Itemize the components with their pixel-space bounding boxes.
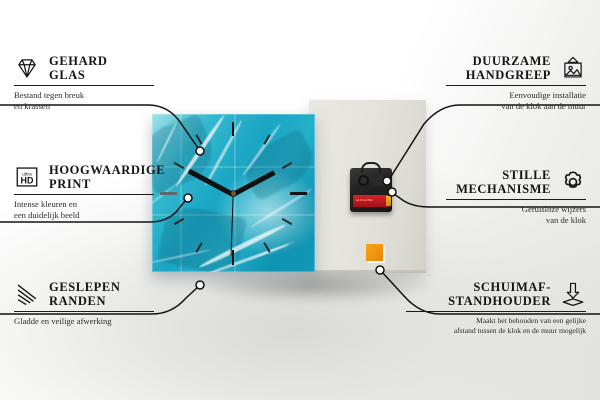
feature-subtitle-line2: een duidelijk beeld	[14, 210, 154, 221]
feature-title-row: GESLEPEN RANDEN	[14, 280, 154, 308]
feature-hoogwaardige-print: ultra HD HOOGWAARDIGE PRINT Intense kleu…	[14, 163, 154, 221]
feature-title: DUURZAME HANDGREEP	[466, 54, 551, 82]
feature-title-row: DUURZAME HANDGREEP	[446, 54, 586, 82]
hanging-picture-frame-icon	[560, 55, 586, 81]
feature-title: HOOGWAARDIGE PRINT	[49, 163, 165, 191]
feature-subtitle: Gladde en veilige afwerking	[14, 316, 154, 327]
feature-subtitle: Geruisloze wijzers van de klok	[446, 204, 586, 226]
press-down-pad-icon	[560, 281, 586, 307]
feature-title-row: SCHUIMAF- STANDHOUDER	[406, 280, 586, 308]
tick-12	[232, 122, 234, 136]
feature-subtitle-line1: Geruisloze wijzers	[446, 204, 586, 215]
aa-battery: ALKALINE	[353, 195, 389, 207]
feature-subtitle: Bestand tegen breuk en krassen	[14, 90, 154, 112]
feature-title: STILLE MECHANISME	[456, 168, 551, 196]
feature-duurzame-handgreep: DUURZAME HANDGREEP Eenvoudige installati…	[446, 54, 586, 112]
mechanism-housing-block	[372, 174, 386, 186]
feature-underline	[446, 199, 586, 200]
tick-9	[160, 192, 177, 195]
feature-subtitle-line1: Gladde en veilige afwerking	[14, 316, 154, 327]
infographic-canvas: ALKALINE	[0, 0, 600, 400]
feature-geslepen-randen: GESLEPEN RANDEN Gladde en veilige afwerk…	[14, 280, 154, 327]
battery-positive-cap	[386, 196, 391, 206]
mechanism-hanger-hook	[361, 162, 381, 173]
feature-subtitle-line1: Eenvoudige installatie	[446, 90, 586, 101]
feature-subtitle-line2: van de klok	[446, 215, 586, 226]
tick-6	[232, 250, 234, 265]
feature-subtitle: Eenvoudige installatie van de klok aan d…	[446, 90, 586, 112]
foam-spacer-pad	[366, 244, 383, 261]
feature-stille-mechanisme: STILLE MECHANISME Geruisloze wijzers van…	[446, 168, 586, 226]
gear-icon	[560, 169, 586, 195]
feature-title-row: ultra HD HOOGWAARDIGE PRINT	[14, 163, 154, 191]
feature-schuimaf-standhouder: SCHUIMAF- STANDHOUDER Maakt het behouden…	[406, 280, 586, 336]
feature-subtitle: Intense kleuren en een duidelijk beeld	[14, 199, 154, 221]
panel-bottom-edge	[309, 270, 426, 273]
diagonal-lines-icon	[14, 281, 40, 307]
feature-title: GESLEPEN RANDEN	[49, 280, 121, 308]
svg-text:HD: HD	[21, 176, 34, 186]
feature-underline	[446, 85, 586, 86]
feature-subtitle-line2: afstand tussen de klok en de muur mogeli…	[406, 326, 586, 336]
feature-underline	[14, 311, 154, 312]
feature-underline	[406, 311, 586, 312]
diamond-icon	[14, 55, 40, 81]
feature-underline	[14, 85, 154, 86]
feature-subtitle: Maakt het behouden van een gelijke afsta…	[406, 316, 586, 336]
feature-subtitle-line2: en krassen	[14, 101, 154, 112]
ultra-hd-icon: ultra HD	[14, 164, 40, 190]
clock-center-hub	[231, 191, 236, 196]
feature-subtitle-line2: van de klok aan de muur	[446, 101, 586, 112]
feature-title-row: GEHARD GLAS	[14, 54, 154, 82]
feature-underline	[14, 194, 154, 195]
feature-gehard-glas: GEHARD GLAS Bestand tegen breuk en krass…	[14, 54, 154, 112]
feature-subtitle-line1: Intense kleuren en	[14, 199, 154, 210]
feature-title: SCHUIMAF- STANDHOUDER	[406, 280, 551, 308]
tick-3	[290, 192, 307, 195]
glass-wall-clock	[152, 114, 315, 272]
feature-title-row: STILLE MECHANISME	[446, 168, 586, 196]
clock-mechanism: ALKALINE	[350, 168, 392, 212]
feature-subtitle-line1: Bestand tegen breuk	[14, 90, 154, 101]
battery-label: ALKALINE	[356, 198, 373, 202]
print-streak-10	[247, 241, 294, 262]
mechanism-shaft	[358, 175, 369, 186]
feature-title: GEHARD GLAS	[49, 54, 107, 82]
feature-subtitle-line1: Maakt het behouden van een gelijke	[406, 316, 586, 326]
